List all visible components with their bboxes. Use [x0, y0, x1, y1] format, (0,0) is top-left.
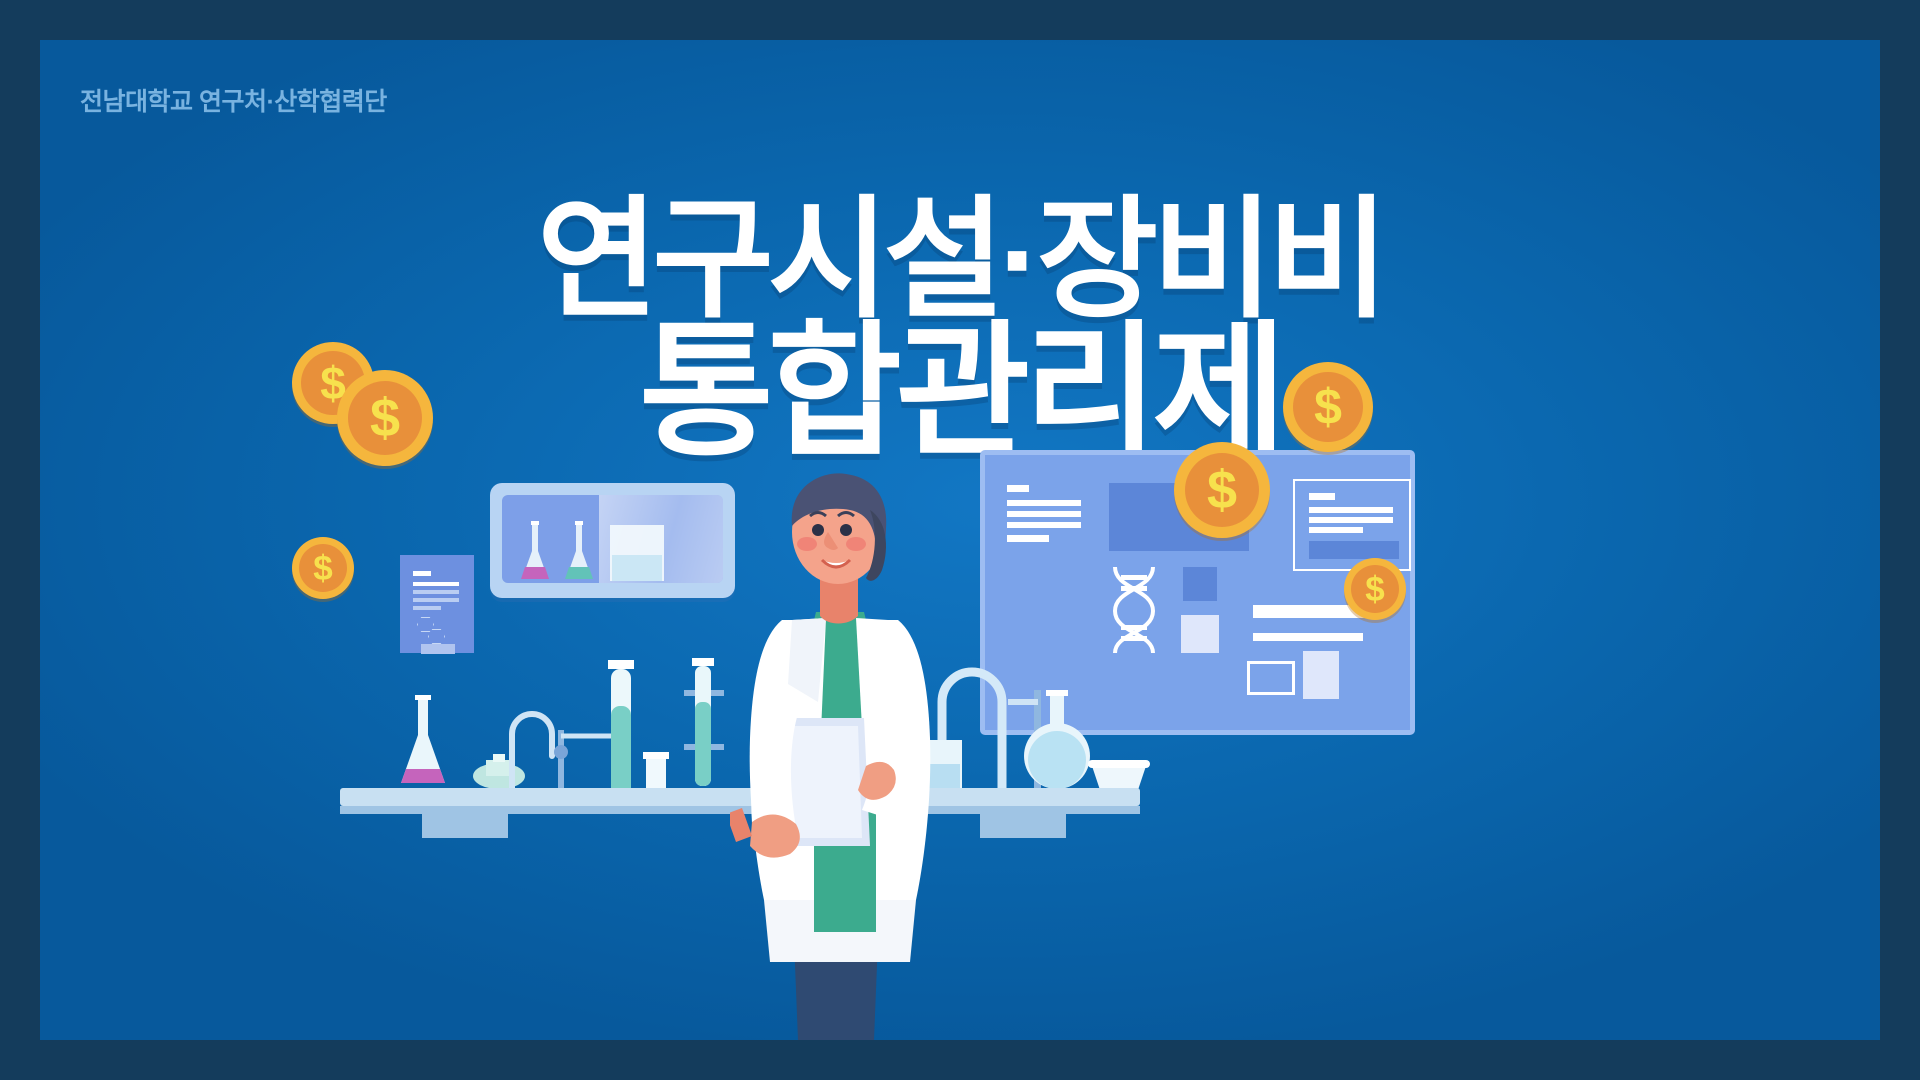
- board-square-block: [1181, 615, 1219, 653]
- board-text-line: [1007, 485, 1029, 492]
- test-tube-rack-icon: [678, 658, 730, 790]
- poster-text-line: [413, 606, 441, 610]
- board-text-line: [1007, 511, 1081, 517]
- beaker-icon: [608, 525, 666, 583]
- board-card-block: [1303, 651, 1339, 699]
- cheek-right: [846, 537, 866, 551]
- coin-face: $: [1351, 565, 1399, 613]
- bench-leg: [980, 814, 1066, 838]
- flask-teal-icon: [562, 521, 596, 583]
- dna-helix-icon: [1103, 563, 1165, 653]
- board-text-line: [1309, 517, 1393, 523]
- flask-magenta-icon: [518, 521, 552, 583]
- board-text-line: [1309, 507, 1393, 513]
- erlenmeyer-flask-icon: [395, 695, 451, 790]
- board-square-block: [1183, 567, 1217, 601]
- round-flask-icon: [1018, 690, 1096, 790]
- dollar-icon: $: [1314, 382, 1342, 432]
- eye-left: [812, 524, 824, 536]
- board-image-block: [1309, 541, 1399, 559]
- board-document-frame: [1293, 479, 1411, 571]
- clipboard-page: [788, 726, 862, 838]
- cabinet-interior: [502, 495, 723, 583]
- wall-poster: [400, 555, 474, 653]
- bench-leg: [422, 814, 508, 838]
- cheek-left: [797, 537, 817, 551]
- coin-left-small: $: [292, 537, 354, 599]
- banner-card: 전남대학교 연구처·산학협력단 연구시설·장비비 통합관리제: [40, 40, 1880, 1040]
- board-text-line: [1309, 527, 1363, 533]
- dollar-icon: $: [370, 391, 400, 445]
- scientist-character: [730, 470, 950, 1040]
- glass-cabinet: [490, 483, 735, 598]
- board-text-line: [1309, 493, 1335, 500]
- laboratory-illustration: $ $ $ $: [40, 40, 1880, 1040]
- poster-text-line: [413, 582, 459, 586]
- board-text-line: [1007, 522, 1081, 528]
- hexagon-molecule-icon: [417, 617, 434, 632]
- board-text-line: [1007, 535, 1049, 542]
- coin-left-front: $: [337, 370, 433, 466]
- board-text-line: [1007, 500, 1081, 506]
- mortar-icon: [1088, 758, 1150, 792]
- poster-text-line: [413, 598, 459, 602]
- eye-right: [840, 524, 852, 536]
- vial-icon: [638, 752, 674, 790]
- poster-title-line: [413, 571, 431, 576]
- dollar-icon: $: [1365, 572, 1384, 607]
- hexagon-molecule-icon: [428, 629, 445, 644]
- poster-text-line: [413, 590, 459, 594]
- coin-right-low: $: [1344, 558, 1406, 620]
- held-test-tube-icon: [600, 660, 642, 800]
- board-document-frame: [1247, 661, 1295, 695]
- coin-right-top: $: [1283, 362, 1373, 452]
- board-text-line: [1253, 633, 1363, 641]
- coin-face: $: [299, 544, 347, 592]
- poster-button-block: [421, 644, 455, 654]
- coin-mid-right: $: [1174, 442, 1270, 538]
- banner-canvas: 전남대학교 연구처·산학협력단 연구시설·장비비 통합관리제: [0, 0, 1920, 1080]
- dollar-icon: $: [1207, 463, 1237, 517]
- coin-face: $: [1293, 372, 1363, 442]
- dollar-icon: $: [313, 551, 332, 586]
- thumb-left: [730, 808, 752, 842]
